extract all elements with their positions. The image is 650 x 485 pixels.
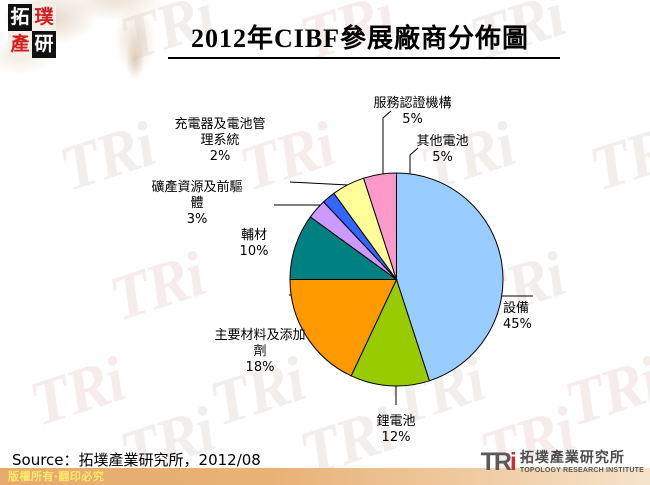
source-note: Source：拓墣產業研究所，2012/08: [12, 449, 261, 470]
pie-label-chong-dian-qi: 充電器及電池管 理系統 2%: [150, 101, 290, 180]
pie-label-value: 45%: [503, 317, 532, 333]
pie-label-li-dian-chi: 鋰電池 12%: [337, 398, 455, 461]
tri-corner-logo: 拓 璞 產 研: [8, 4, 56, 58]
pie-label-value: 12%: [337, 430, 455, 446]
tri-wordmark: TRi: [481, 450, 515, 475]
pie-label-text: 鋰電池: [376, 414, 415, 429]
copyright-note: 版權所有‧翻印必究: [8, 468, 104, 484]
pie-label-value: 3%: [120, 212, 274, 228]
pie-label-value: 2%: [150, 149, 290, 165]
logo-char-chan: 產: [8, 31, 32, 58]
pie-label-she-bei: 設備 45%: [503, 285, 532, 348]
pie-label-value: 18%: [180, 360, 340, 376]
pie-label-text: 主要材料及添加 劑: [214, 328, 305, 359]
slide-canvas: TRiTRiTRiTRiTRiTRiTRiTRiTRiTRiTRiTRiTRiT…: [0, 0, 650, 485]
tri-brand-text: 拓墣產業研究所 TOPOLOGY RESEARCH INSTITUTE: [520, 451, 644, 474]
logo-char-pu: 璞: [32, 4, 56, 31]
pie-label-qi-ta-dian-chi: 其他電池 5%: [390, 118, 495, 181]
title-underline: [168, 57, 560, 59]
pie-label-text: 服務認證機構: [373, 96, 451, 111]
pie-label-value: 5%: [390, 150, 495, 166]
pie-label-text: 設備: [503, 301, 529, 316]
pie-label-text: 充電器及電池管 理系統: [174, 117, 265, 148]
pie-label-text: 其他電池: [416, 134, 468, 149]
slide-title: 2012年CIBF參展廠商分佈圖: [150, 18, 570, 55]
pie-chart-area: 設備 45% 鋰電池 12% 主要材料及添加 劑 18% 輔材 10% 礦產資源…: [0, 60, 650, 430]
tri-brand-cn: 拓墣產業研究所: [520, 451, 644, 465]
pie-label-zhu-yao-cai-liao: 主要材料及添加 劑 18%: [180, 312, 340, 391]
pie-label-text: 礦產資源及前驅 體: [151, 180, 242, 211]
logo-char-yan: 研: [32, 31, 56, 58]
logo-char-tuo: 拓: [8, 4, 32, 31]
pie-label-value: 10%: [220, 244, 288, 260]
tri-dot-i: i: [510, 448, 515, 476]
tri-brand-en: TOPOLOGY RESEARCH INSTITUTE: [520, 467, 644, 474]
tri-footer-logo: TRi 拓墣產業研究所 TOPOLOGY RESEARCH INSTITUTE: [481, 447, 644, 477]
